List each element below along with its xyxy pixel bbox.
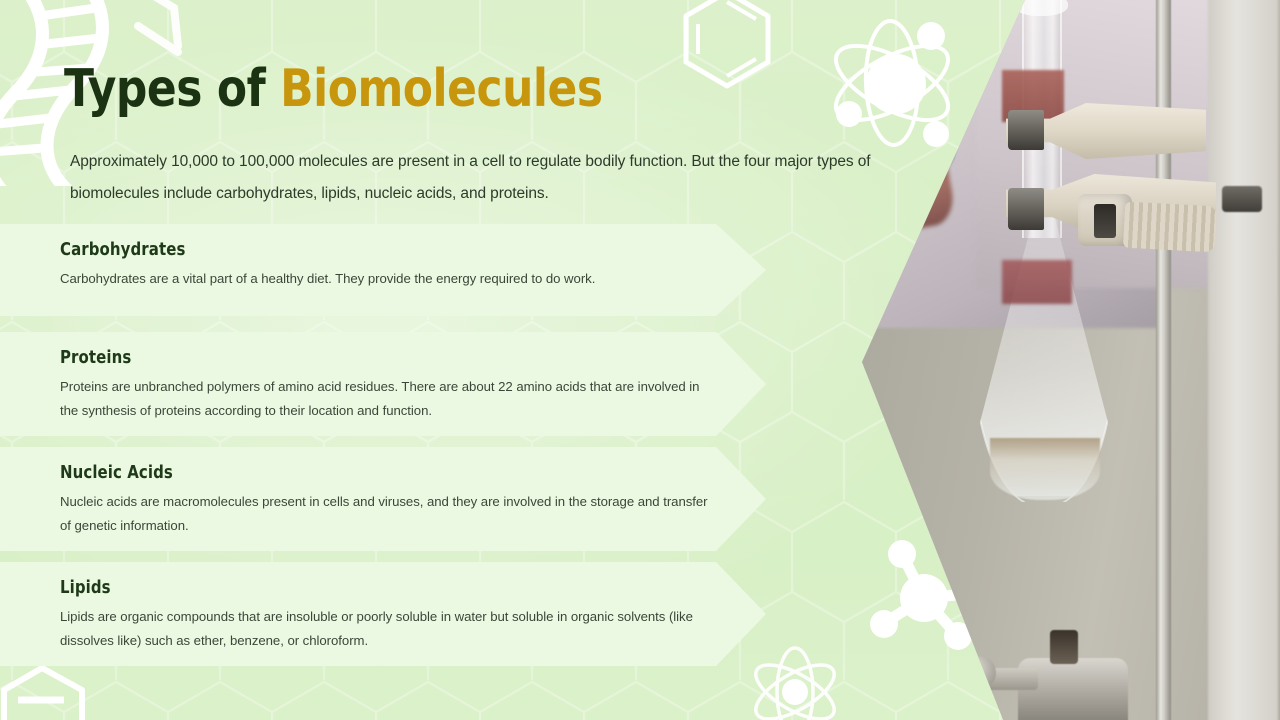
card-title-carbohydrates: Carbohydrates <box>60 240 731 260</box>
slide: Types of Biomolecules Approximately 10,0… <box>0 0 1280 720</box>
page-subtitle: Approximately 10,000 to 100,000 molecule… <box>70 146 908 210</box>
page-title-part2: Biomolecules <box>280 59 603 119</box>
card-carbohydrates[interactable]: Carbohydrates Carbohydrates are a vital … <box>0 224 766 316</box>
page-title-part1: Types of <box>64 59 280 119</box>
card-proteins[interactable]: Proteins Proteins are unbranched polymer… <box>0 332 766 436</box>
card-title-lipids: Lipids <box>60 578 731 598</box>
card-nucleic-acids[interactable]: Nucleic Acids Nucleic acids are macromol… <box>0 447 766 551</box>
card-title-nucleic-acids: Nucleic Acids <box>60 463 731 483</box>
card-lipids[interactable]: Lipids Lipids are organic compounds that… <box>0 562 766 666</box>
card-body-lipids: Lipids are organic compounds that are in… <box>60 605 720 653</box>
card-title-proteins: Proteins <box>60 348 731 368</box>
page-title: Types of Biomolecules <box>64 62 603 117</box>
card-body-carbohydrates: Carbohydrates are a vital part of a heal… <box>60 267 720 291</box>
card-body-proteins: Proteins are unbranched polymers of amin… <box>60 375 720 423</box>
card-body-nucleic-acids: Nucleic acids are macromolecules present… <box>60 490 720 538</box>
